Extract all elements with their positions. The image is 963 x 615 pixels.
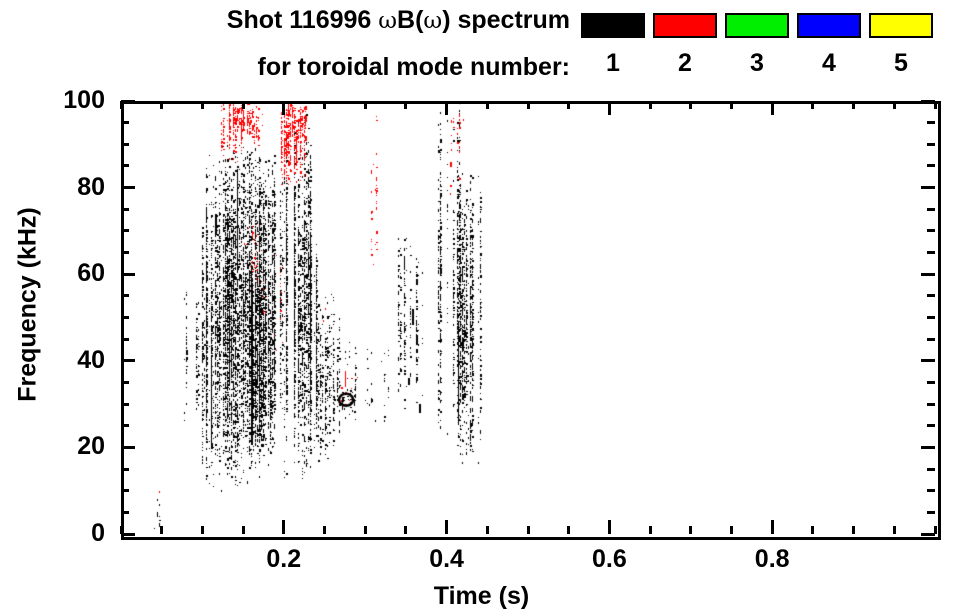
x-tick-0.35 (404, 526, 407, 534)
title-text-part2: B( (397, 6, 423, 34)
spectrogram-canvas-wrap (121, 101, 935, 534)
y-tick-60 (121, 273, 135, 276)
x-top-tick-0.4 (445, 101, 448, 115)
y-right-tick-90 (927, 143, 935, 146)
y-tick-10 (121, 489, 129, 492)
plot-area (121, 101, 935, 534)
y-right-tick-15 (927, 468, 935, 471)
x-axis-title: Time (s) (0, 582, 963, 611)
y-tick-35 (121, 381, 129, 384)
x-tick-label-0.6: 0.6 (564, 545, 654, 574)
x-tick-0.8 (771, 520, 774, 534)
y-tick-75 (121, 208, 129, 211)
x-top-tick-0.55 (567, 101, 570, 109)
legend-swatch-3 (725, 13, 789, 38)
y-tick-65 (121, 251, 129, 254)
x-top-tick-0.75 (730, 101, 733, 109)
omega-symbol-2: ω (423, 8, 442, 34)
y-tick-20 (121, 446, 135, 449)
y-axis-title: Frequency (kHz) (14, 95, 43, 515)
y-right-tick-75 (927, 208, 935, 211)
title-text-part1: Shot 116996 (227, 6, 378, 34)
legend-item-3[interactable]: 3 (725, 13, 789, 76)
x-top-tick-0.25 (323, 101, 326, 109)
y-right-tick-85 (927, 164, 935, 167)
y-tick-30 (121, 403, 129, 406)
legend-item-2[interactable]: 2 (653, 13, 717, 76)
y-tick-70 (121, 229, 129, 232)
y-tick-5 (121, 511, 129, 514)
legend-swatch-1 (581, 13, 645, 38)
x-tick-0.3 (364, 526, 367, 534)
x-tick-0.75 (730, 526, 733, 534)
chart-title-line2: for toroidal mode number: (0, 53, 570, 82)
y-tick-80 (121, 186, 135, 189)
y-right-tick-80 (921, 186, 935, 189)
y-right-tick-0 (921, 533, 935, 536)
y-right-tick-60 (921, 273, 935, 276)
x-tick-0.65 (649, 526, 652, 534)
x-top-tick-0.6 (608, 101, 611, 115)
x-tick-0.9 (852, 526, 855, 534)
legend-label-2: 2 (653, 51, 717, 76)
legend-label-4: 4 (797, 51, 861, 76)
y-right-tick-45 (927, 338, 935, 341)
x-tick-label-0.8: 0.8 (727, 545, 817, 574)
chart-title-line1: Shot 116996 ωB(ω) spectrum (0, 6, 570, 35)
y-tick-55 (121, 294, 129, 297)
x-top-tick-0.65 (649, 101, 652, 109)
x-tick-0.6 (608, 520, 611, 534)
title-text-part3: ) spectrum (442, 6, 570, 34)
x-tick-0.45 (486, 526, 489, 534)
x-top-tick-0.1 (201, 101, 204, 109)
y-tick-0 (121, 533, 135, 536)
x-tick-0.1 (201, 526, 204, 534)
x-tick-0.55 (567, 526, 570, 534)
x-tick-0.4 (445, 520, 448, 534)
y-right-tick-70 (927, 229, 935, 232)
legend-item-1[interactable]: 1 (581, 13, 645, 76)
y-right-tick-100 (921, 100, 935, 103)
x-tick-0.25 (323, 526, 326, 534)
y-tick-90 (121, 143, 129, 146)
x-top-tick-0.05 (160, 101, 163, 109)
y-tick-85 (121, 164, 129, 167)
y-tick-100 (121, 100, 135, 103)
y-right-tick-20 (921, 446, 935, 449)
x-top-tick-0.9 (852, 101, 855, 109)
legend: 12345 (581, 13, 941, 88)
figure-root: Shot 116996 ωB(ω) spectrum for toroidal … (0, 0, 963, 615)
y-tick-label-0: 0 (10, 519, 105, 548)
y-tick-15 (121, 468, 129, 471)
spectrogram-canvas (121, 101, 935, 534)
x-top-tick-0.45 (486, 101, 489, 109)
y-right-tick-5 (927, 511, 935, 514)
x-tick-0.7 (689, 526, 692, 534)
y-right-tick-55 (927, 294, 935, 297)
y-tick-45 (121, 338, 129, 341)
x-top-tick-0.2 (282, 101, 285, 115)
x-top-tick-0.8 (771, 101, 774, 115)
y-tick-95 (121, 121, 129, 124)
x-tick-0.95 (893, 526, 896, 534)
y-tick-25 (121, 424, 129, 427)
legend-label-3: 3 (725, 51, 789, 76)
x-tick-label-0.2: 0.2 (239, 545, 329, 574)
x-top-tick-0.3 (364, 101, 367, 109)
x-tick-0.15 (242, 526, 245, 534)
legend-item-4[interactable]: 4 (797, 13, 861, 76)
y-right-tick-35 (927, 381, 935, 384)
x-top-tick-0.5 (527, 101, 530, 109)
y-right-tick-40 (921, 359, 935, 362)
omega-symbol-1: ω (378, 8, 397, 34)
y-tick-40 (121, 359, 135, 362)
legend-item-5[interactable]: 5 (869, 13, 933, 76)
legend-label-1: 1 (581, 51, 645, 76)
legend-swatch-2 (653, 13, 717, 38)
y-right-tick-25 (927, 424, 935, 427)
legend-swatch-4 (797, 13, 861, 38)
x-tick-label-0.4: 0.4 (402, 545, 492, 574)
y-right-tick-10 (927, 489, 935, 492)
x-tick-0.2 (282, 520, 285, 534)
y-right-tick-30 (927, 403, 935, 406)
x-tick-0.85 (811, 526, 814, 534)
legend-label-5: 5 (869, 51, 933, 76)
legend-swatch-5 (869, 13, 933, 38)
y-tick-50 (121, 316, 129, 319)
y-right-tick-95 (927, 121, 935, 124)
x-top-tick-0.7 (689, 101, 692, 109)
x-tick-0.5 (527, 526, 530, 534)
x-tick-0.05 (160, 526, 163, 534)
x-top-tick-0.15 (242, 101, 245, 109)
y-right-tick-65 (927, 251, 935, 254)
y-right-tick-50 (927, 316, 935, 319)
x-top-tick-0.95 (893, 101, 896, 109)
x-top-tick-0.85 (811, 101, 814, 109)
x-top-tick-0.35 (404, 101, 407, 109)
